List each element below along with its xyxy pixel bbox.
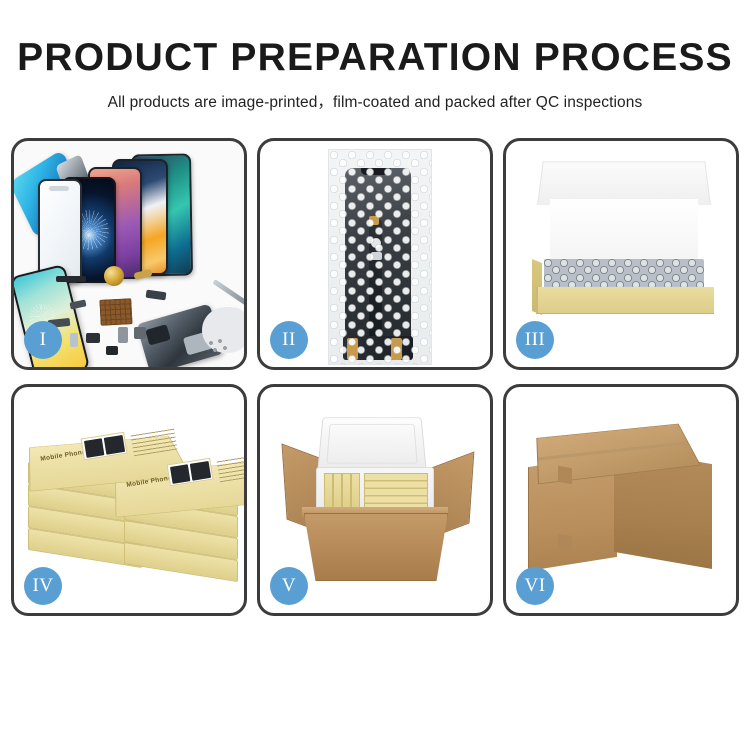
small-part — [146, 290, 167, 301]
process-step-6: VI — [503, 384, 739, 616]
process-step-4: Mobile Phone Spare Parts Mobile Phone Sp… — [11, 384, 247, 616]
step-badge-3: III — [516, 321, 554, 359]
bubble-bag-image — [328, 149, 432, 365]
carton-front-image — [304, 513, 448, 581]
process-step-grid: I II — [11, 138, 739, 616]
step-badge-6: VI — [516, 567, 554, 605]
box-liner-image — [550, 199, 698, 263]
step-badge-1: I — [24, 321, 62, 359]
carton-tape-patch — [558, 466, 572, 484]
box-stack-image: Mobile Phone Spare Parts Mobile Phone Sp… — [24, 409, 238, 595]
product-preparation-page: PRODUCT PREPARATION PROCESS All products… — [0, 0, 750, 750]
small-part — [70, 333, 78, 347]
step-badge-2: II — [270, 321, 308, 359]
foam-lid-image — [317, 417, 427, 471]
page-subtitle: All products are image-printed，film-coat… — [0, 90, 750, 112]
small-part — [86, 333, 100, 343]
small-part — [134, 327, 146, 339]
bubble-texture — [329, 150, 431, 364]
gold-coil-image — [104, 266, 124, 286]
process-step-5: V — [257, 384, 493, 616]
chip-grid-image — [99, 298, 132, 326]
tweezer-image — [212, 279, 244, 308]
process-step-3: III — [503, 138, 739, 370]
page-header: PRODUCT PREPARATION PROCESS All products… — [0, 0, 750, 112]
box-front-image — [536, 287, 714, 314]
process-step-1: I — [11, 138, 247, 370]
small-part — [118, 327, 128, 343]
page-title: PRODUCT PREPARATION PROCESS — [0, 38, 750, 77]
process-step-2: II — [257, 138, 493, 370]
step-badge-4: IV — [24, 567, 62, 605]
black-strip-part — [56, 276, 86, 282]
small-part — [106, 346, 118, 355]
carton-tape-patch — [558, 534, 572, 552]
box-spec-lines — [217, 454, 244, 483]
step-badge-5: V — [270, 567, 308, 605]
screws-image — [208, 339, 230, 355]
